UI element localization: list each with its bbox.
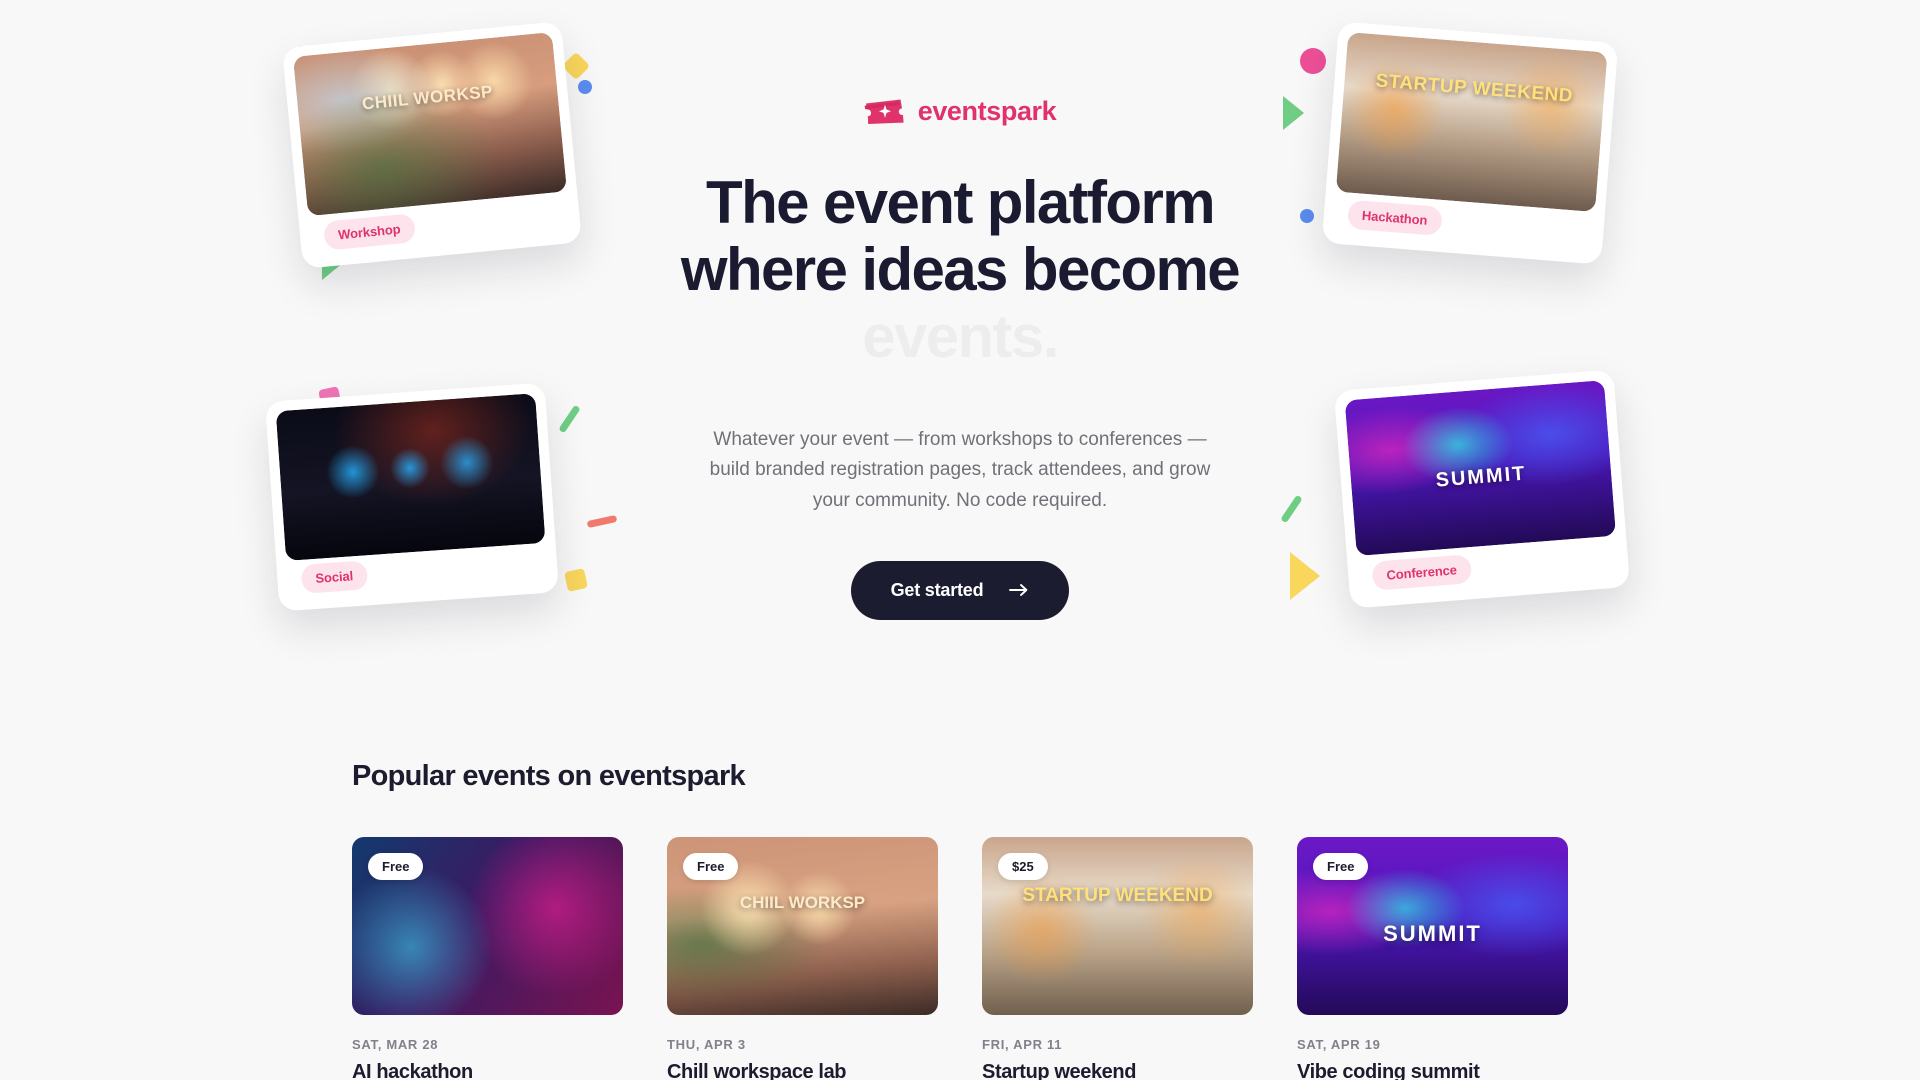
event-thumbnail: $25 STARTUP WEEKEND bbox=[982, 837, 1253, 1015]
conference-photo-text: SUMMIT bbox=[1351, 456, 1612, 499]
event-thumbnail-text: SUMMIT bbox=[1297, 921, 1568, 947]
arrow-right-icon bbox=[1009, 583, 1029, 597]
event-thumbnail: Free CHIIL WORKSP bbox=[667, 837, 938, 1015]
floating-card-workshop-badge: Workshop bbox=[323, 213, 416, 251]
event-card[interactable]: $25 STARTUP WEEKEND FRI, APR 11 Startup … bbox=[982, 837, 1253, 1080]
popular-events-grid: Free SAT, MAR 28 AI hackathon Free CHIIL… bbox=[352, 837, 1568, 1080]
event-date: FRI, APR 11 bbox=[982, 1037, 1253, 1052]
event-name: AI hackathon bbox=[352, 1061, 623, 1080]
workshop-photo-text: CHIIL WORKSP bbox=[297, 76, 558, 121]
get-started-label: Get started bbox=[891, 580, 984, 601]
event-name: Vibe coding summit bbox=[1297, 1061, 1568, 1080]
event-thumbnail-text: STARTUP WEEKEND bbox=[982, 885, 1253, 907]
hero-subheading: Whatever your event — from workshops to … bbox=[700, 425, 1220, 517]
event-date: SAT, APR 19 bbox=[1297, 1037, 1568, 1052]
event-card[interactable]: Free SAT, MAR 28 AI hackathon bbox=[352, 837, 623, 1080]
event-price-badge: Free bbox=[1313, 853, 1368, 880]
ticket-sparkle-icon bbox=[864, 98, 904, 125]
event-name: Chill workspace lab bbox=[667, 1061, 938, 1080]
event-thumbnail: Free bbox=[352, 837, 623, 1015]
floating-card-conference-photo: SUMMIT bbox=[1345, 380, 1616, 556]
pink-circle-large bbox=[1300, 48, 1326, 74]
event-name: Startup weekend bbox=[982, 1061, 1253, 1080]
floating-card-conference[interactable]: SUMMIT Conference bbox=[1334, 369, 1630, 608]
green-dash-social bbox=[558, 405, 581, 434]
yellow-square bbox=[564, 568, 588, 592]
popular-events-section: Popular events on eventspark Free SAT, M… bbox=[0, 760, 1920, 1080]
get-started-button[interactable]: Get started bbox=[851, 561, 1070, 620]
popular-events-title: Popular events on eventspark bbox=[352, 760, 1568, 793]
event-card[interactable]: Free CHIIL WORKSP THU, APR 3 Chill works… bbox=[667, 837, 938, 1080]
floating-card-workshop-photo: CHIIL WORKSP bbox=[293, 32, 567, 216]
social-photo-text bbox=[276, 393, 535, 411]
event-date: THU, APR 3 bbox=[667, 1037, 938, 1052]
yellow-diamond bbox=[562, 52, 590, 80]
event-price-badge: Free bbox=[368, 853, 423, 880]
hero-center-column: eventspark The event platform where idea… bbox=[600, 96, 1320, 620]
headline-line-3: events. bbox=[600, 303, 1320, 370]
floating-card-social-photo bbox=[276, 393, 546, 561]
brand-name: eventspark bbox=[918, 96, 1057, 127]
blue-dot-topleft bbox=[578, 80, 592, 94]
event-date: SAT, MAR 28 bbox=[352, 1037, 623, 1052]
event-price-badge: $25 bbox=[998, 853, 1048, 880]
floating-card-social[interactable]: Social bbox=[265, 382, 559, 611]
floating-card-social-badge: Social bbox=[300, 560, 368, 594]
hackathon-photo-text: STARTUP WEEKEND bbox=[1344, 68, 1605, 110]
event-thumbnail: Free SUMMIT bbox=[1297, 837, 1568, 1015]
brand-logo[interactable]: eventspark bbox=[600, 96, 1320, 127]
landing-page: CHIIL WORKSP Workshop STARTUP WEEKEND Ha… bbox=[0, 0, 1920, 1080]
floating-card-conference-badge: Conference bbox=[1371, 554, 1472, 591]
hero-section: CHIIL WORKSP Workshop STARTUP WEEKEND Ha… bbox=[0, 0, 1920, 760]
event-price-badge: Free bbox=[683, 853, 738, 880]
hero-headline: The event platform where ideas become ev… bbox=[600, 169, 1320, 371]
floating-card-hackathon-badge: Hackathon bbox=[1347, 200, 1443, 236]
headline-line-2: where ideas become bbox=[681, 236, 1239, 303]
floating-card-hackathon[interactable]: STARTUP WEEKEND Hackathon bbox=[1322, 21, 1619, 264]
floating-card-hackathon-photo: STARTUP WEEKEND bbox=[1336, 32, 1608, 212]
headline-line-1: The event platform bbox=[706, 169, 1214, 236]
floating-card-workshop[interactable]: CHIIL WORKSP Workshop bbox=[282, 21, 582, 269]
event-thumbnail-text: CHIIL WORKSP bbox=[667, 893, 938, 913]
event-card[interactable]: Free SUMMIT SAT, APR 19 Vibe coding summ… bbox=[1297, 837, 1568, 1080]
